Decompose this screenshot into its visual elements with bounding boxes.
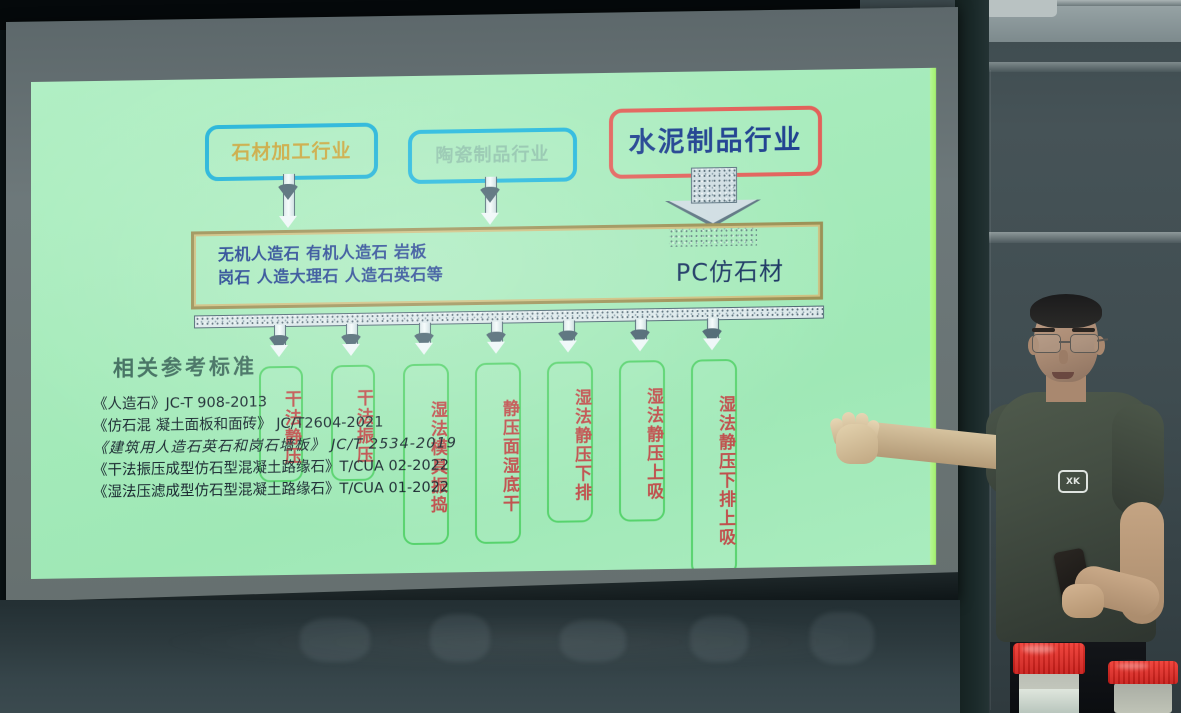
process-box-5: 湿法静压下排 [547, 361, 593, 523]
presenter-nose [1059, 350, 1068, 364]
process-riser-1 [268, 325, 290, 347]
industry-box-stone: 石材加工行业 [205, 123, 378, 182]
process-riser-7 [701, 318, 723, 340]
reference-standards-list: 《人造石》JC-T 908-2013《仿石混 凝土面板和面砖》 JC/T2604… [93, 387, 513, 504]
reference-standards-block: 相关参考标准 《人造石》JC-T 908-2013《仿石混 凝土面板和面砖》 J… [93, 346, 513, 504]
industry-box-stone-label: 石材加工行业 [231, 141, 351, 164]
industry-box-cement-label: 水泥制品行业 [629, 126, 803, 158]
industry-box-ceramic: 陶瓷制品行业 [408, 127, 577, 184]
presenter-eyebrow-right [1072, 328, 1095, 332]
arrow-stone-to-products [277, 174, 299, 218]
products-line-2: 岗石 人造大理石 人造石英石等 [218, 263, 443, 290]
products-bar-left-text: 无机人造石 有机人造石 岩板 岗石 人造大理石 人造石英石等 [218, 240, 443, 290]
presenter-pointing-hand [830, 410, 884, 466]
process-box-label: 湿法静压下排上吸 [715, 394, 735, 546]
presenter-mouth [1052, 372, 1074, 379]
process-box-label: 湿法静压上吸 [643, 387, 663, 501]
process-riser-4 [485, 322, 507, 344]
presentation-photo-scene: 石材加工行业 陶瓷制品行业 水泥制品行业 [0, 0, 1181, 713]
industry-box-ceramic-label: 陶瓷制品行业 [436, 145, 550, 167]
reference-standards-title: 相关参考标准 [113, 346, 513, 382]
products-bar: 无机人造石 有机人造石 岩板 岗石 人造大理石 人造石英石等 PC仿石材 [191, 222, 823, 310]
slide-edge-glow [930, 68, 936, 565]
shirt-logo: XK [1058, 470, 1088, 493]
reflection-highlight [150, 612, 850, 672]
arrow-ceramic-to-products [479, 177, 501, 215]
process-riser-2 [340, 324, 362, 346]
process-riser-5 [557, 320, 579, 342]
ceiling-projector-mount [985, 0, 1057, 17]
process-box-label: 湿法静压下排 [571, 388, 591, 502]
presenter-right-hand [1062, 584, 1104, 618]
wall-trim-upper [960, 62, 1181, 72]
water-bottle-front [1013, 643, 1085, 713]
process-box-7: 湿法静压下排上吸 [691, 359, 737, 576]
projected-slide: 石材加工行业 陶瓷制品行业 水泥制品行业 [31, 68, 936, 579]
process-box-6: 湿法静压上吸 [619, 360, 665, 522]
pc-stone-label: PC仿石材 [676, 251, 784, 288]
arrow-cement-to-pc-stone [665, 167, 761, 229]
presenter-right-sleeve [1112, 404, 1164, 516]
water-bottle-right [1108, 661, 1178, 713]
wall-trim-lower [960, 232, 1181, 243]
presenter-eyebrow-left [1032, 328, 1055, 332]
glasses-icon [1028, 334, 1106, 352]
process-riser-6 [629, 319, 651, 341]
process-riser-3 [413, 323, 435, 345]
presenter-hair [1030, 294, 1102, 328]
